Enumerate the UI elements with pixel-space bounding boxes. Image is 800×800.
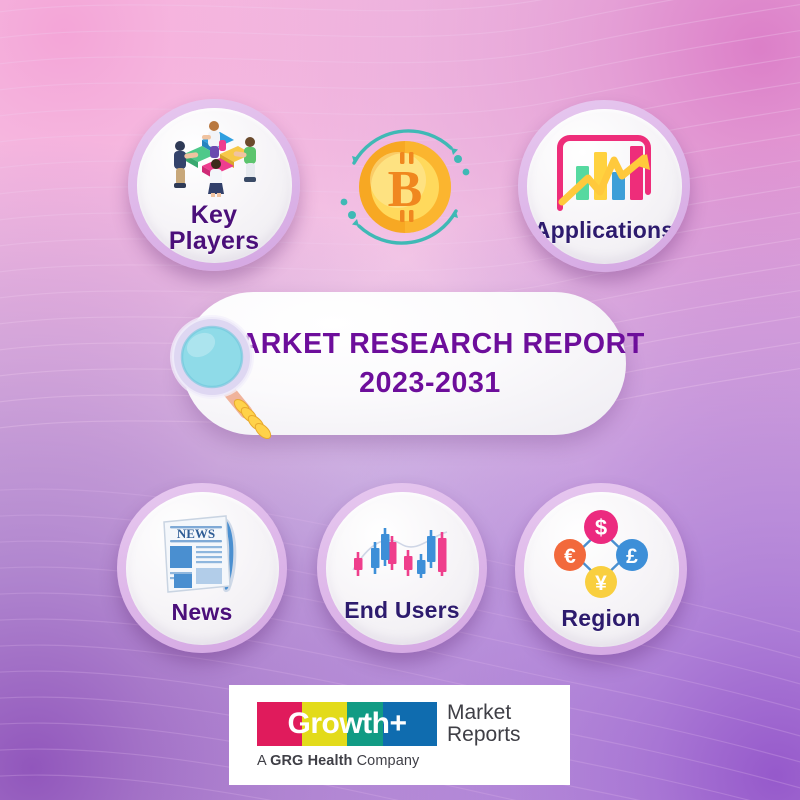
badge-applications[interactable]: Applications	[518, 100, 690, 272]
logo-right-text: Market Reports	[447, 702, 521, 746]
bitcoin-coin-icon: B	[330, 112, 480, 262]
currency-symbol-pound: £	[626, 545, 638, 568]
marketing-poster: Key Players	[0, 0, 800, 800]
magnifier-icon	[168, 312, 286, 440]
logo-tagline-suffix: Company	[352, 753, 419, 769]
badge-applications-label: Applications	[534, 218, 674, 242]
badge-applications-inner: Applications	[527, 109, 682, 264]
candlestick-chart-icon	[347, 514, 457, 594]
badge-news[interactable]: NEWS News	[117, 483, 287, 653]
currency-symbol-dollar: $	[595, 515, 607, 540]
badge-end-users-inner: End Users	[326, 492, 479, 645]
logo-right-line1: Market	[447, 701, 511, 724]
badge-region-label: Region	[561, 606, 640, 630]
badge-key-players-label-line2: Players	[169, 228, 259, 254]
badge-region-inner: $ € £ ¥ Region	[524, 492, 679, 647]
logo-right-line2: Reports	[447, 723, 521, 746]
badge-end-users[interactable]: End Users	[317, 483, 487, 653]
logo-top-row: Growth+ Market Reports	[229, 702, 570, 746]
badge-end-users-label: End Users	[344, 598, 460, 622]
currency-symbol-yen: ¥	[595, 572, 607, 595]
logo-color-blocks: Growth+	[257, 702, 437, 746]
badge-key-players-inner: Key Players	[137, 108, 292, 263]
logo-tagline: A GRG Health Company	[229, 753, 570, 769]
badge-news-label: News	[172, 600, 233, 624]
newspaper-masthead: NEWS	[177, 526, 215, 541]
newspaper-icon: NEWS	[150, 512, 254, 596]
bar-chart-growth-icon	[548, 130, 660, 214]
logo-tagline-prefix: A	[257, 753, 270, 769]
svg-text:B: B	[388, 161, 423, 218]
badge-key-players-label: Key Players	[169, 202, 259, 255]
currency-symbol-euro: €	[564, 545, 576, 568]
logo-wordmark: Growth+	[287, 709, 406, 739]
badge-news-inner: NEWS News	[126, 492, 279, 645]
team-puzzle-icon	[158, 116, 270, 198]
currency-exchange-icon: $ € £ ¥	[551, 508, 651, 602]
badge-key-players-label-line1: Key	[169, 202, 259, 228]
badge-key-players[interactable]: Key Players	[128, 99, 300, 271]
company-logo[interactable]: Growth+ Market Reports A GRG Health Comp…	[229, 685, 570, 785]
logo-tagline-bold: GRG Health	[270, 753, 352, 769]
badge-region[interactable]: $ € £ ¥ Region	[515, 483, 687, 655]
